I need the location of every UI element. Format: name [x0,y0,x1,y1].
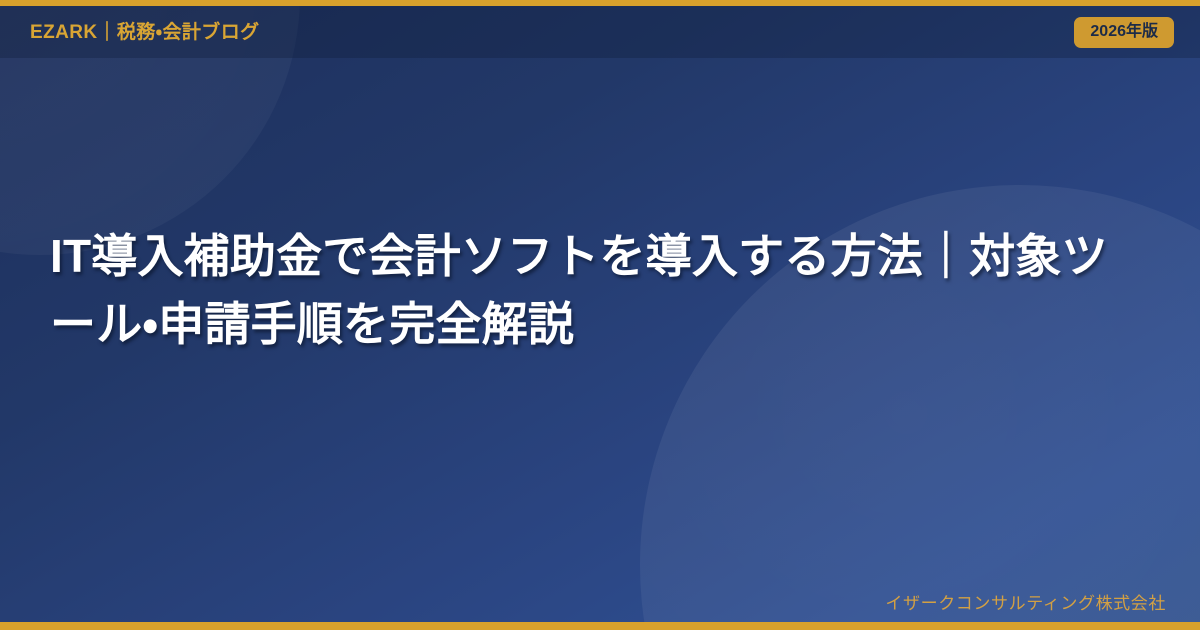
bottom-accent-bar [0,622,1200,630]
title-block: IT導入補助金で会計ソフトを導入する方法｜対象ツール・申請手順を完全解説 [50,222,1150,358]
page-title: IT導入補助金で会計ソフトを導入する方法｜対象ツール・申請手順を完全解説 [50,222,1148,358]
edition-badge: 2026年版 [1074,17,1174,48]
footer-company-name: イザークコンサルティング株式会社 [885,595,1166,612]
brand-label: EZARK｜税務・会計ブログ [30,23,260,42]
og-card: EZARK｜税務・会計ブログ 2026年版 IT導入補助金で会計ソフトを導入する… [0,0,1200,630]
header: EZARK｜税務・会計ブログ 2026年版 [0,6,1200,58]
